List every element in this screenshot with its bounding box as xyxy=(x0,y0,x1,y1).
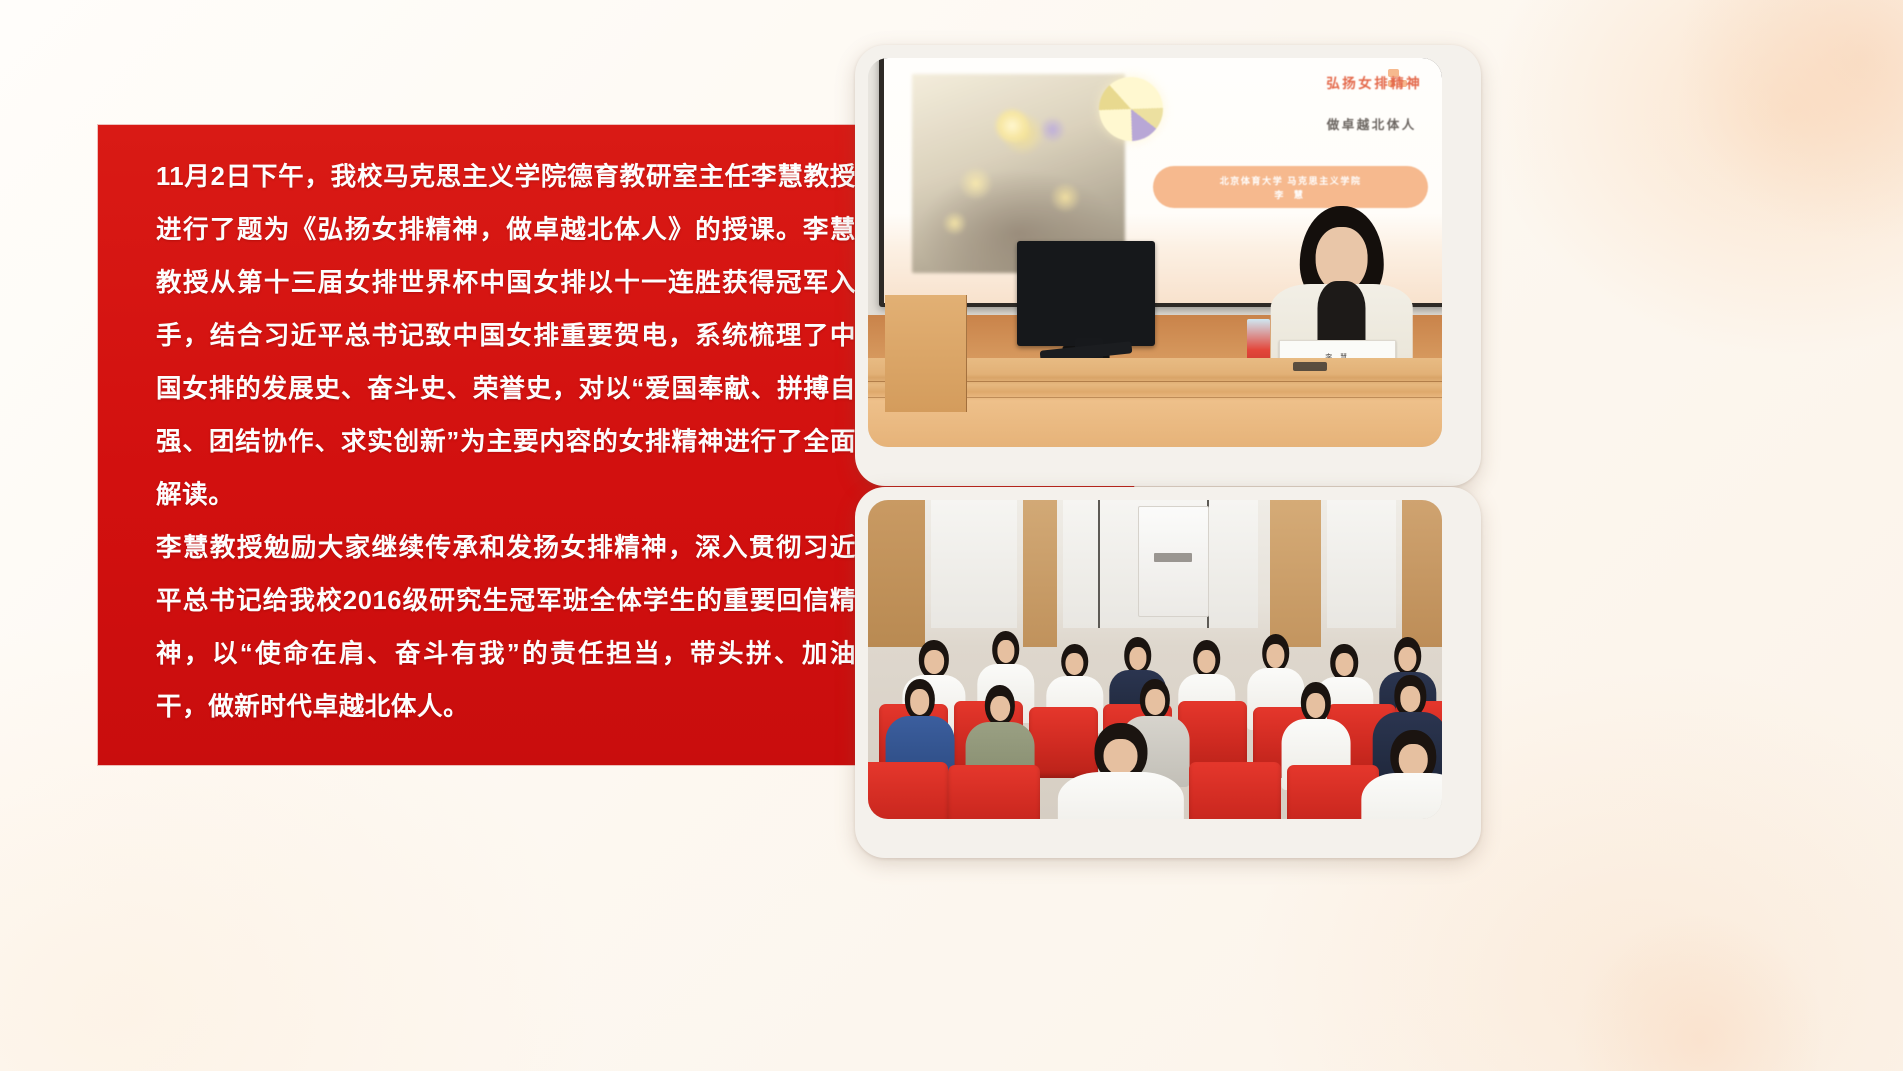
hall-window xyxy=(1327,500,1396,628)
audience-students-photo-image xyxy=(868,500,1442,819)
podium-side-panel xyxy=(885,295,966,412)
slide-speaker-name: 李 慧 xyxy=(1274,188,1307,201)
slide-affiliation: 北京体育大学 马克思主义学院 xyxy=(1220,174,1362,187)
slide-subtitle: 做卓越北体人 xyxy=(1327,114,1417,133)
article-text-block: 11月2日下午，我校马克思主义学院德育教研室主任李慧教授进行了题为《弘扬女排精神… xyxy=(156,151,856,734)
audience-students-photo xyxy=(855,487,1481,858)
slide-speaker-pill: 北京体育大学 马克思主义学院 李 慧 xyxy=(1153,166,1428,208)
desk-monitor xyxy=(1017,241,1155,346)
eyeglasses-on-desk xyxy=(1293,362,1327,371)
lecture-presenter-photo-image: 弘扬女排精神 做卓越北体人 北京体育大学 马克思主义学院 李 慧 李 慧 xyxy=(868,58,1442,447)
hall-curtain xyxy=(868,500,925,647)
article-paragraph-2: 李慧教授勉励大家继续传承和发扬女排精神，深入贯彻习近平总书记给我校2016级研究… xyxy=(156,522,856,734)
slide-title: 弘扬女排精神 xyxy=(1326,72,1422,92)
auditorium-seat xyxy=(868,762,948,819)
auditorium-seat xyxy=(1189,762,1281,819)
audience-person-foreground xyxy=(1057,723,1183,819)
air-conditioner-unit xyxy=(1138,506,1209,616)
hall-curtain xyxy=(1270,500,1322,647)
hall-curtain xyxy=(1023,500,1057,647)
lecture-presenter-photo: 弘扬女排精神 做卓越北体人 北京体育大学 马克思主义学院 李 慧 李 慧 xyxy=(855,45,1481,486)
auditorium-seat xyxy=(948,765,1040,819)
audience-person-foreground xyxy=(1362,730,1442,819)
hall-window xyxy=(931,500,1017,628)
hall-curtain xyxy=(1402,500,1442,647)
article-paragraph-1: 11月2日下午，我校马克思主义学院德育教研室主任李慧教授进行了题为《弘扬女排精神… xyxy=(156,151,856,522)
window-mullion xyxy=(1098,500,1101,628)
